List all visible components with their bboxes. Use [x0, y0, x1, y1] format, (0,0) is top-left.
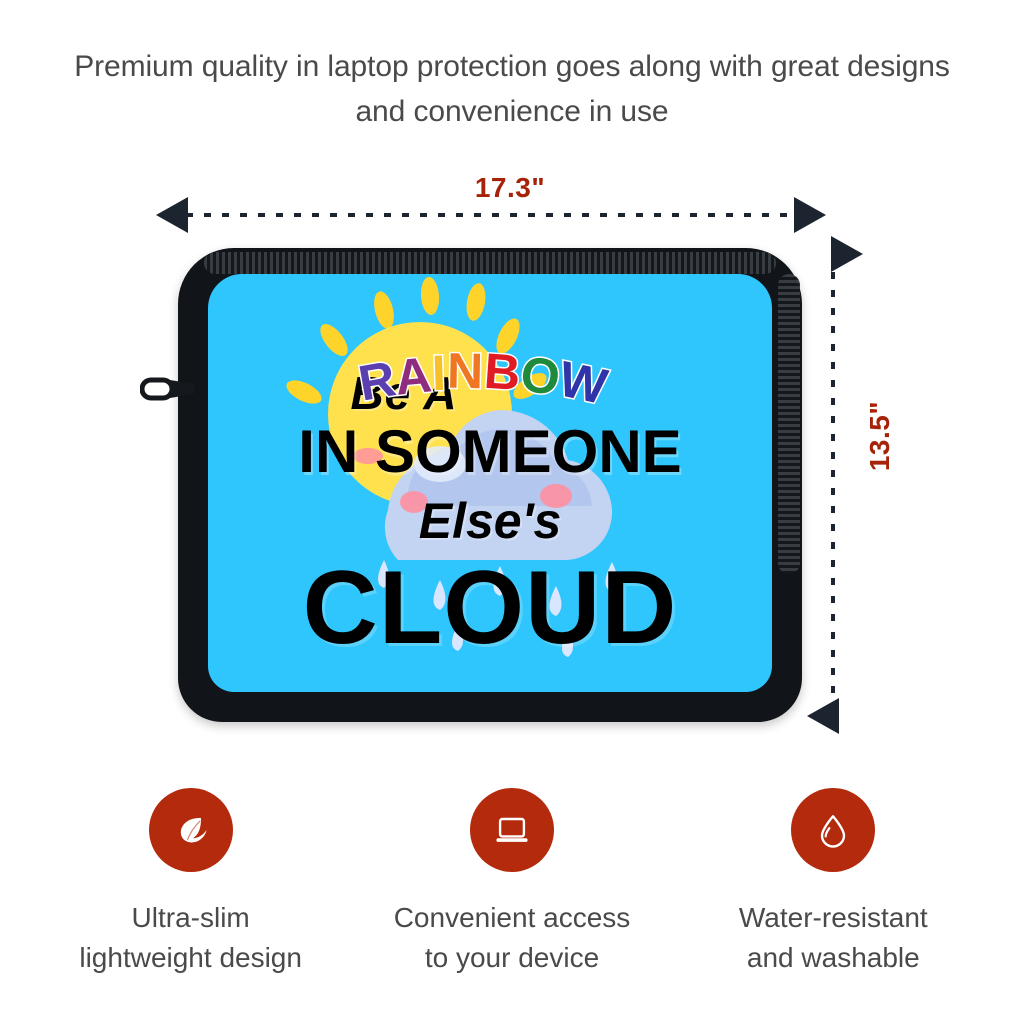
zipper-right	[778, 274, 800, 574]
rainbow-letter-n-3: N	[447, 346, 485, 397]
artwork-line-rainbow: RAINBOW	[358, 350, 609, 400]
water-drop-icon	[791, 788, 875, 872]
feather-icon	[149, 788, 233, 872]
width-dimension-label: 17.3"	[380, 172, 640, 204]
sleeve-artwork: Be A RAINBOW IN SOMEONE Else's CLOUD	[208, 274, 772, 692]
feature-caption: Convenient access to your device	[351, 898, 672, 978]
zipper-pull-icon	[140, 374, 202, 404]
laptop-icon	[470, 788, 554, 872]
rainbow-letter-b-4: B	[483, 346, 524, 398]
feature-item-water-resistant: Water-resistant and washable	[673, 788, 994, 978]
artwork-line-elses: Else's	[208, 496, 772, 546]
feature-caption: Ultra-slim lightweight design	[30, 898, 351, 978]
height-dimension-label: 13.5"	[864, 376, 896, 496]
artwork-line-cloud: CLOUD	[208, 556, 772, 660]
feature-list: Ultra-slim lightweight design Convenient…	[30, 788, 994, 978]
page-title: Premium quality in laptop protection goe…	[60, 44, 964, 134]
rainbow-letter-a-1: A	[393, 349, 435, 403]
artwork-line-in-someone: IN SOMEONE	[208, 422, 772, 482]
rainbow-letter-i-2: I	[431, 348, 448, 398]
feature-item-ultra-slim: Ultra-slim lightweight design	[30, 788, 351, 978]
sleeve-print-face: Be A RAINBOW IN SOMEONE Else's CLOUD	[208, 274, 772, 692]
feature-caption: Water-resistant and washable	[673, 898, 994, 978]
laptop-sleeve: Be A RAINBOW IN SOMEONE Else's CLOUD	[178, 248, 802, 722]
zipper-top	[204, 252, 776, 274]
feature-item-convenient-access: Convenient access to your device	[351, 788, 672, 978]
product-infographic: Premium quality in laptop protection goe…	[0, 0, 1024, 1024]
